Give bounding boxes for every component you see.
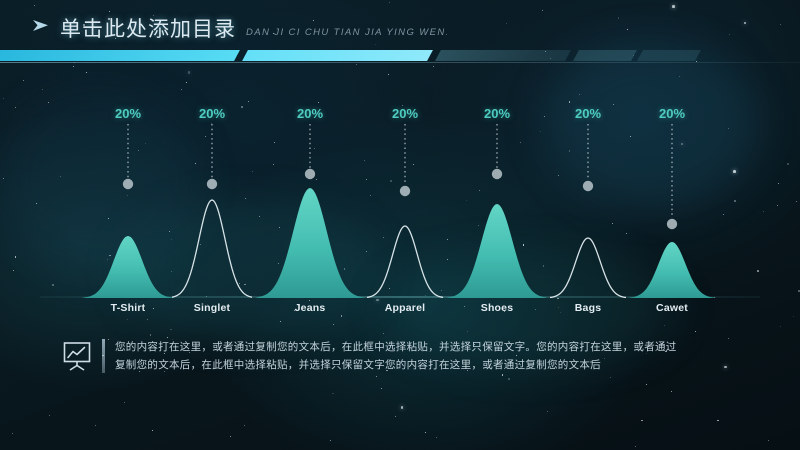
accent-bar-segment: [435, 50, 571, 61]
accent-bar-segment: [637, 50, 701, 61]
star-dot: [610, 377, 612, 379]
star-dot: [635, 446, 636, 447]
marker-dot[interactable]: [305, 169, 315, 179]
title-block: 单击此处添加目录 DAN JI CI CHU TIAN JIA YING WEN: [32, 13, 446, 43]
filled-bell-curve: [628, 242, 716, 298]
marker-dot[interactable]: [207, 179, 217, 189]
star-dot: [502, 374, 504, 376]
category-label: Apparel: [385, 302, 426, 314]
presentation-chart-icon: [62, 340, 92, 372]
category-label: Bags: [575, 302, 601, 314]
bell-curve-chart: 20%20%20%20%20%20%20% T-ShirtSingletJean…: [0, 66, 800, 316]
star-dot: [124, 402, 125, 403]
star-dot: [147, 319, 148, 320]
star-dot: [376, 376, 377, 377]
outline-bell-curve: [172, 200, 252, 297]
footnote-block: 您的内容打在这里，或者通过复制您的文本后，在此框中选择粘贴，并选择只保留文字。您…: [62, 338, 752, 374]
category-label: Jeans: [295, 302, 326, 314]
star-dot: [395, 416, 396, 417]
star-dot: [152, 430, 153, 431]
footnote-line-1: 您的内容打在这里，或者通过复制您的文本后，在此框中选择粘贴，并选择只保留文字。您…: [115, 338, 677, 356]
filled-bell-curve: [255, 188, 364, 298]
star-dot: [646, 384, 647, 385]
filled-bell-curve: [447, 204, 548, 298]
star-dot: [49, 415, 50, 416]
star-dot: [467, 331, 468, 332]
star-dot: [547, 411, 548, 412]
star-dot: [333, 324, 334, 325]
star-dot: [12, 433, 13, 434]
value-label: 20%: [659, 106, 685, 121]
star-dot: [230, 436, 231, 437]
header-accent-bar: [0, 50, 800, 62]
marker-dot[interactable]: [667, 219, 677, 229]
star-dot: [244, 425, 245, 426]
connector-group: [123, 124, 677, 229]
chart-svg: [0, 66, 800, 316]
accent-bar-segment: [0, 50, 240, 61]
star-dot: [332, 393, 334, 395]
star-dot: [695, 331, 696, 332]
star-dot: [330, 440, 331, 441]
category-label: Cawet: [656, 302, 688, 314]
star-dot: [436, 437, 437, 438]
star-dot: [768, 440, 769, 441]
value-label: 20%: [484, 106, 510, 121]
star-dot: [671, 391, 672, 392]
star-dot: [280, 321, 282, 323]
category-label: T-Shirt: [111, 302, 146, 314]
footnote-divider: [102, 339, 105, 373]
category-label: Singlet: [194, 302, 230, 314]
category-label: Shoes: [481, 302, 514, 314]
slide-header: 单击此处添加目录 DAN JI CI CHU TIAN JIA YING WEN: [0, 0, 800, 66]
star-dot: [793, 316, 794, 317]
footnote-line-2: 复制您的文本后，在此框中选择粘贴，并选择只保留文字您的内容打在这里，或者通过复制…: [115, 356, 677, 374]
marker-dot[interactable]: [400, 186, 410, 196]
marker-dot[interactable]: [123, 179, 133, 189]
star-dot: [381, 388, 382, 389]
filled-bell-curve: [82, 236, 174, 298]
accent-bar-segment: [242, 50, 433, 61]
star-dot: [383, 333, 384, 334]
star-dot: [95, 425, 96, 426]
marker-dot[interactable]: [492, 169, 502, 179]
slide-canvas: 单击此处添加目录 DAN JI CI CHU TIAN JIA YING WEN: [0, 0, 800, 450]
arrow-right-icon: [32, 18, 50, 34]
star-dot: [127, 319, 128, 320]
value-label: 20%: [297, 106, 323, 121]
star-dot: [150, 334, 152, 336]
star-dot: [641, 420, 643, 422]
star-dot: [508, 378, 510, 380]
page-title: 单击此处添加目录: [60, 13, 236, 43]
footnote-text: 您的内容打在这里，或者通过复制您的文本后，在此框中选择粘贴，并选择只保留文字。您…: [115, 338, 677, 374]
star-dot: [401, 406, 404, 409]
value-label: 20%: [392, 106, 418, 121]
value-label: 20%: [575, 106, 601, 121]
marker-dot[interactable]: [583, 181, 593, 191]
star-dot: [664, 325, 665, 326]
value-label: 20%: [115, 106, 141, 121]
star-dot: [780, 326, 781, 327]
page-subtitle: DAN JI CI CHU TIAN JIA YING WEN: [246, 27, 446, 38]
outline-bell-curve: [550, 238, 626, 298]
accent-bar-segment: [573, 50, 637, 61]
header-divider-line: [0, 62, 800, 63]
curve-group: [82, 188, 716, 298]
star-dot: [717, 420, 719, 422]
outline-bell-curve: [367, 226, 443, 297]
value-label: 20%: [199, 106, 225, 121]
star-dot: [170, 329, 172, 331]
star-dot: [425, 432, 426, 433]
